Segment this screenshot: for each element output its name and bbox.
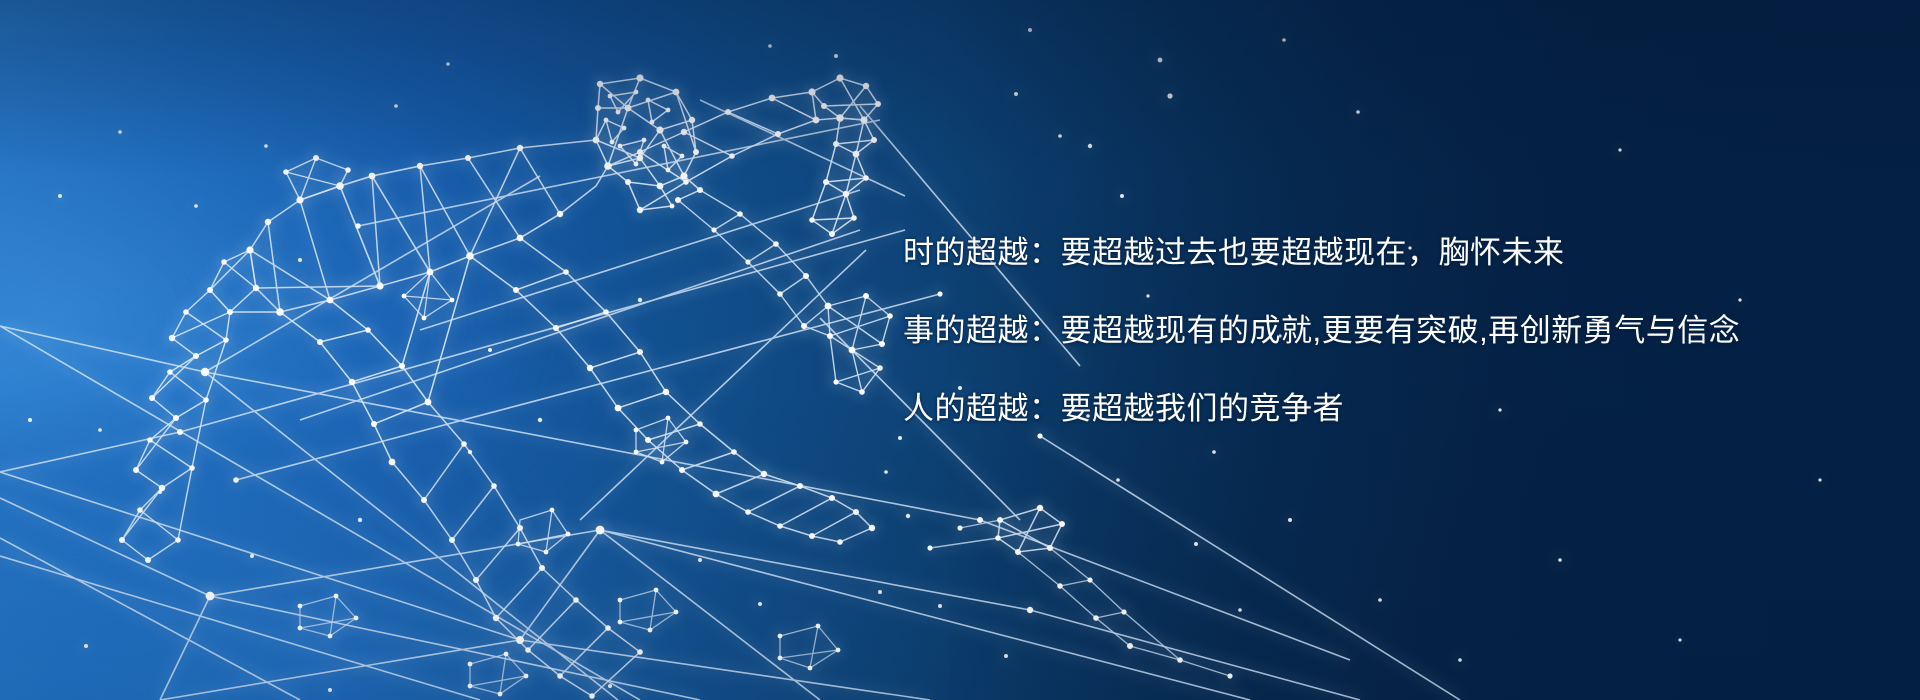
tagline-line-1: 时的超越：要超越过去也要超越现在，胸怀未来: [903, 236, 1803, 270]
tagline-line-3: 人的超越：要超越我们的竞争者: [903, 392, 1803, 426]
tagline-line-2: 事的超越：要超越现有的成就,更要有突破,再创新勇气与信念: [903, 314, 1803, 348]
banner-stage: 时的超越：要超越过去也要超越现在，胸怀未来 事的超越：要超越现有的成就,更要有突…: [0, 0, 1920, 700]
tagline-block: 时的超越：要超越过去也要超越现在，胸怀未来 事的超越：要超越现有的成就,更要有突…: [903, 236, 1803, 426]
